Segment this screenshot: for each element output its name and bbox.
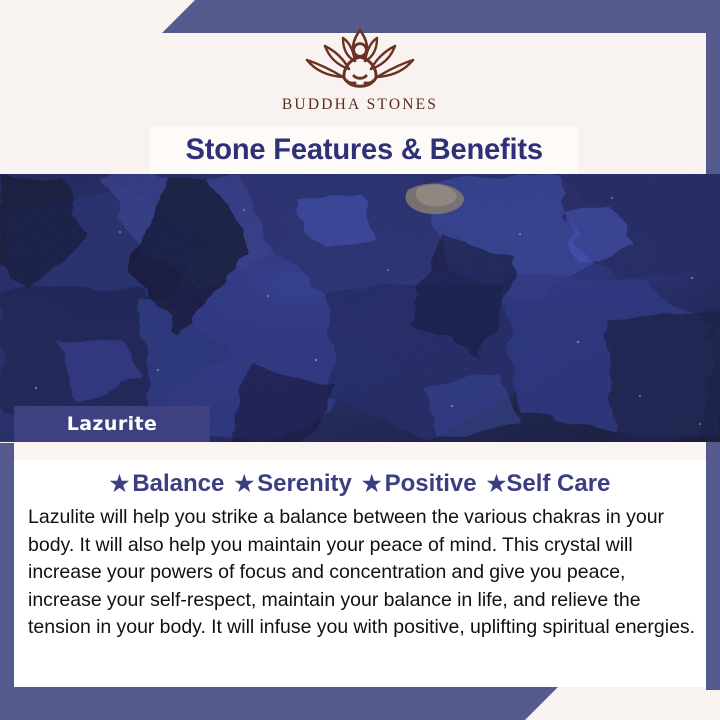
benefit-item-self-care: ★Self Care — [479, 470, 611, 497]
star-icon: ★ — [110, 471, 130, 496]
benefit-label: Serenity — [257, 470, 352, 497]
benefit-item-serenity: ★Serenity — [226, 470, 351, 497]
benefit-label: Positive — [385, 470, 477, 497]
benefit-item-positive: ★Positive — [354, 470, 477, 497]
star-icon: ★ — [487, 471, 507, 496]
stone-info-card: BUDDHA STONES Stone Features & Benefits — [0, 0, 720, 720]
stone-name-badge: Lazurite — [14, 406, 210, 442]
stone-photo — [0, 174, 720, 442]
stone-name-label: Lazurite — [67, 413, 158, 435]
benefit-label: Self Care — [506, 470, 610, 497]
frame-left-band — [0, 443, 14, 720]
stone-photo-texture — [0, 174, 720, 442]
star-icon: ★ — [362, 471, 382, 496]
frame-bottom-band — [0, 687, 720, 720]
page-title-banner: Stone Features & Benefits — [150, 126, 578, 174]
benefits-list: ★Balance★Serenity★Positive★Self Care — [14, 470, 706, 498]
star-icon: ★ — [234, 471, 254, 496]
brand-name: BUDDHA STONES — [282, 96, 438, 114]
panel-top-edge — [14, 442, 706, 460]
content-panel: ★Balance★Serenity★Positive★Self Care Laz… — [14, 442, 706, 687]
brand-logo: BUDDHA STONES — [0, 24, 720, 124]
benefit-item-balance: ★Balance — [110, 470, 225, 497]
description-text: Lazulite will help you strike a balance … — [28, 504, 696, 642]
lotus-meditation-icon — [285, 24, 435, 92]
page-title: Stone Features & Benefits — [185, 133, 542, 167]
benefit-label: Balance — [132, 470, 224, 497]
